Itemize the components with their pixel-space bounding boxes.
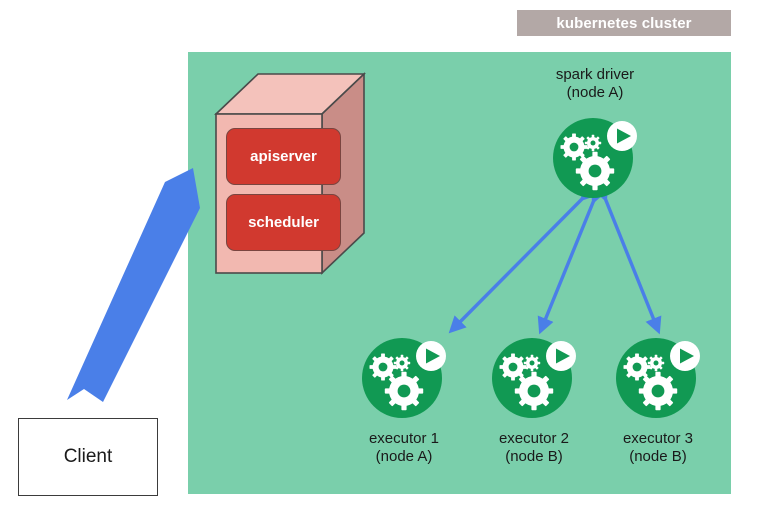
gears-icon: [551, 112, 639, 200]
play-icon: [607, 121, 637, 151]
node-executor-1[interactable]: [360, 332, 448, 420]
node-executor-3[interactable]: [614, 332, 702, 420]
executor-3-label-line2: (node B): [583, 448, 733, 466]
node-spark-driver[interactable]: [551, 112, 639, 200]
executor-1-label-line2: (node A): [329, 448, 479, 466]
node-executor-2[interactable]: [490, 332, 578, 420]
block-arrow-icon: [55, 160, 215, 410]
spark-submit-arrow: [55, 160, 215, 410]
control-plane-cube: apiserver scheduler: [206, 68, 366, 280]
gears-icon: [360, 332, 448, 420]
scheduler-component[interactable]: scheduler: [226, 194, 341, 251]
spark-driver-label-line1: spark driver: [520, 66, 670, 84]
node-label-executor-1: executor 1 (node A): [329, 430, 479, 466]
play-icon: [416, 341, 446, 371]
apiserver-component[interactable]: apiserver: [226, 128, 341, 185]
spark-driver-label-line2: (node A): [520, 84, 670, 102]
scheduler-label: scheduler: [248, 214, 319, 231]
kubernetes-cluster-banner-label: kubernetes cluster: [556, 15, 691, 32]
kubernetes-cluster-banner: kubernetes cluster: [517, 10, 731, 36]
gears-icon: [490, 332, 578, 420]
node-label-executor-3: executor 3 (node B): [583, 430, 733, 466]
executor-3-label-line1: executor 3: [583, 430, 733, 448]
play-icon: [670, 341, 700, 371]
play-icon: [546, 341, 576, 371]
node-label-spark-driver: spark driver (node A): [520, 66, 670, 102]
apiserver-label: apiserver: [250, 148, 317, 165]
executor-1-label-line1: executor 1: [329, 430, 479, 448]
client-label: Client: [64, 446, 113, 468]
diagram-canvas: kubernetes cluster apiserver scheduler: [0, 0, 761, 516]
client-box[interactable]: Client: [18, 418, 158, 496]
gears-icon: [614, 332, 702, 420]
